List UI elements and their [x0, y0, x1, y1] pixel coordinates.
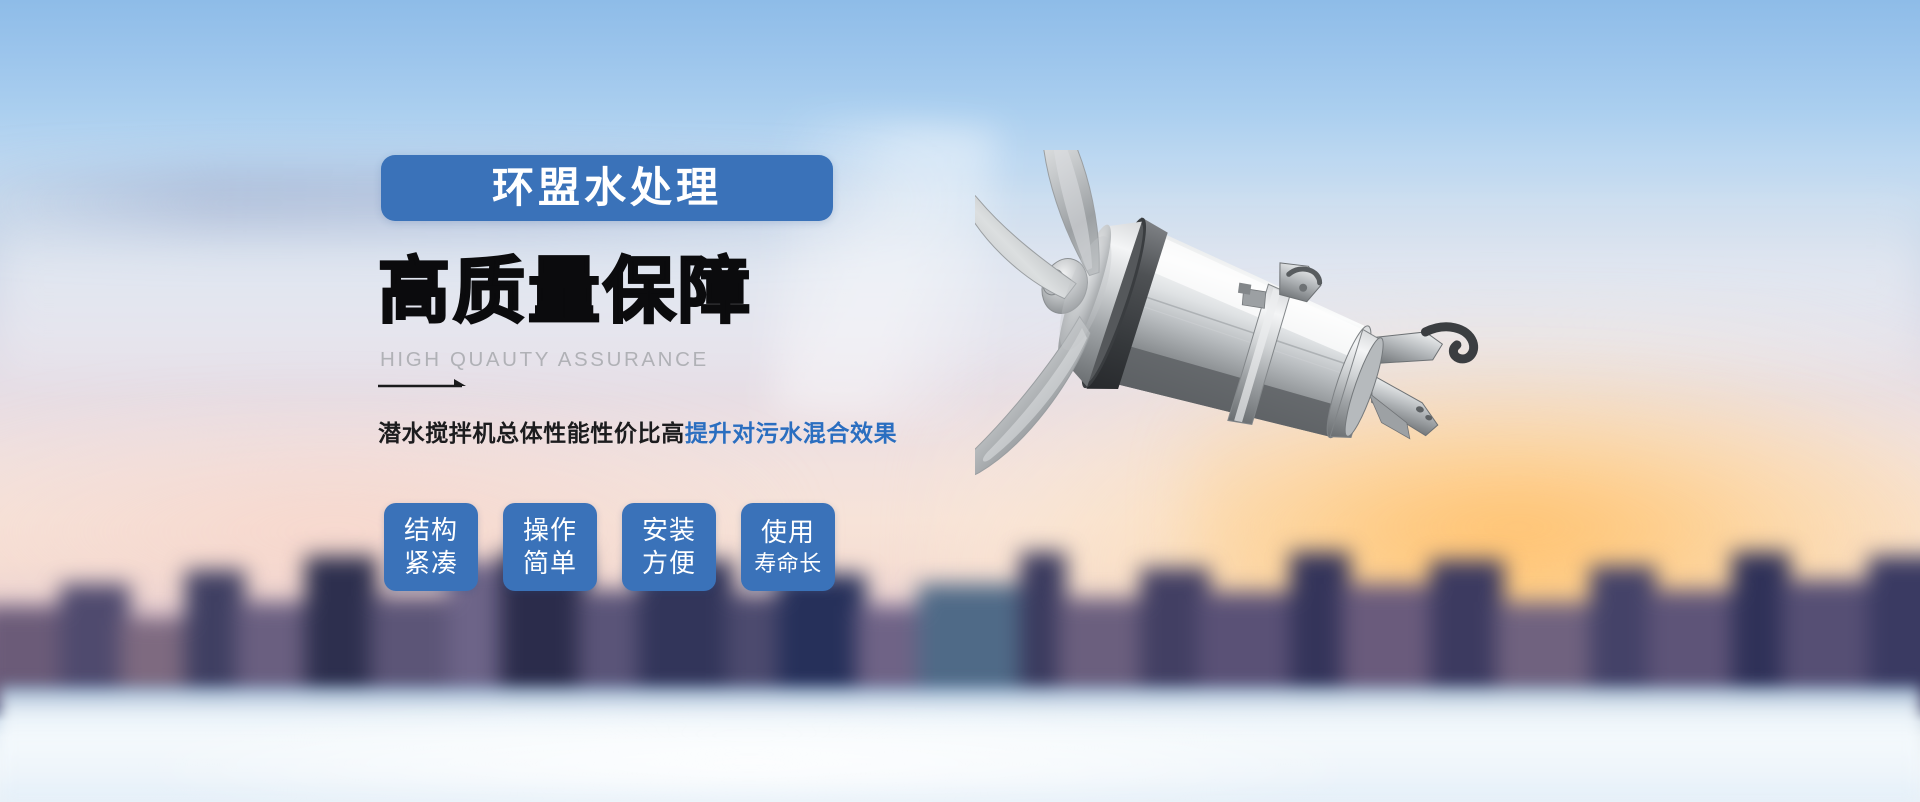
arrow-right-icon — [378, 378, 470, 392]
feature-badge-4-line2: 寿命长 — [754, 550, 822, 578]
hero-content: 环盟水处理 高质量保障 HIGH QUAUTY ASSURANCE 潜水搅拌机总… — [378, 0, 998, 802]
feature-badge-2-line1: 操作 — [523, 514, 577, 547]
feature-badge-3-line2: 方便 — [642, 547, 696, 580]
tagline-blue-part: 提升对污水混合效果 — [685, 420, 897, 446]
subtitle-english: HIGH QUAUTY ASSURANCE — [380, 348, 709, 372]
feature-badge-3[interactable]: 安装 方便 — [622, 503, 716, 591]
feature-badge-1[interactable]: 结构 紧凑 — [384, 503, 478, 591]
feature-badge-2-line2: 简单 — [523, 547, 577, 580]
tagline: 潜水搅拌机总体性能性价比高提升对污水混合效果 — [378, 420, 897, 448]
feature-badge-1-line2: 紧凑 — [404, 547, 458, 580]
brand-pill: 环盟水处理 — [381, 155, 833, 221]
feature-badge-3-line1: 安装 — [642, 514, 696, 547]
feature-badge-2[interactable]: 操作 简单 — [503, 503, 597, 591]
feature-badges: 结构 紧凑 操作 简单 安装 方便 使用 寿命长 — [384, 503, 835, 591]
page-title: 高质量保障 — [378, 256, 753, 328]
feature-badge-4-line1: 使用 — [761, 516, 815, 549]
brand-name-label: 环盟水处理 — [492, 167, 722, 209]
tagline-dark-part: 潜水搅拌机总体性能性价比高 — [378, 420, 685, 446]
feature-badge-4[interactable]: 使用 寿命长 — [741, 503, 835, 591]
feature-badge-1-line1: 结构 — [404, 514, 458, 547]
hero-banner: 环盟水处理 高质量保障 HIGH QUAUTY ASSURANCE 潜水搅拌机总… — [0, 0, 1920, 802]
